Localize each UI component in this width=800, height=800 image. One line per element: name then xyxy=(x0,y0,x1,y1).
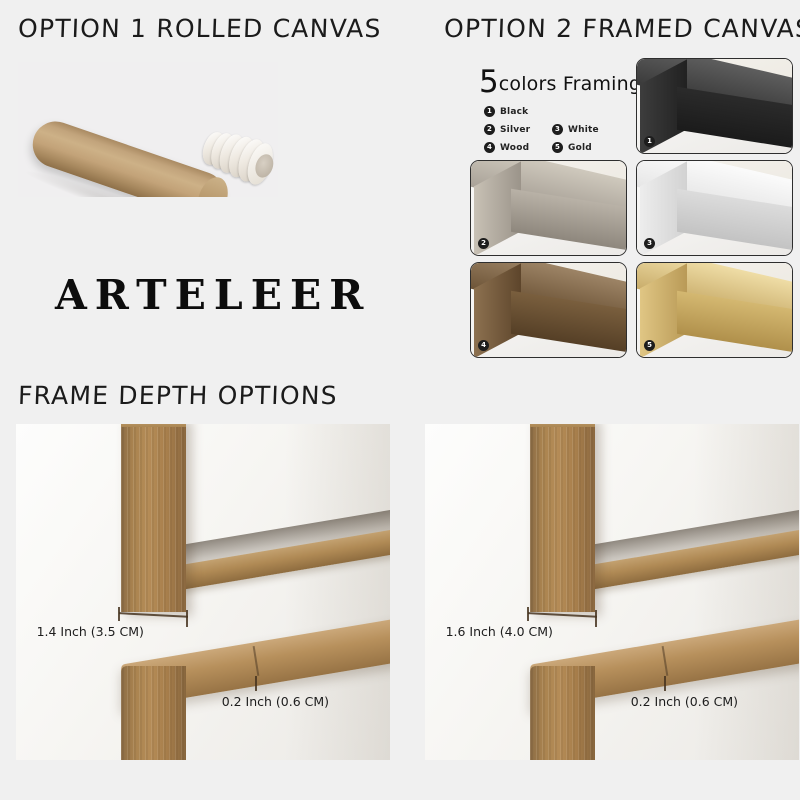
depth-dimension-label: 1.6 Inch (4.0 CM) xyxy=(446,624,553,639)
section-title-option-2: OPTION 2 FRAMED CANVAS xyxy=(443,14,800,43)
depth-dimension-tick-right xyxy=(186,610,188,627)
depth-dimension-tick-left xyxy=(527,607,529,620)
edge-dimension-label: 0.2 Inch (0.6 CM) xyxy=(222,694,329,709)
frame-swatch-gold[interactable]: 5 xyxy=(636,262,793,358)
wall-shading xyxy=(285,424,390,760)
swatch-badge-4-icon: 4 xyxy=(478,340,489,351)
frame-lower-leg xyxy=(530,666,595,760)
frame-leg-top-edge xyxy=(121,424,186,427)
rolled-canvas-photo xyxy=(18,62,278,197)
wall-shading xyxy=(694,424,799,760)
section-title-option-1: OPTION 1 ROLLED CANVAS xyxy=(17,14,382,43)
swatch-badge-5-icon: 5 xyxy=(644,340,655,351)
swatch-badge-1-icon: 1 xyxy=(644,136,655,147)
frame-depth-photo-deep: 1.6 Inch (4.0 CM) 0.2 Inch (0.6 CM) xyxy=(425,424,799,760)
brand-plate: ARTELEER xyxy=(47,250,362,350)
frame-vertical-leg xyxy=(121,424,186,612)
swatch-badge-2-icon: 2 xyxy=(478,238,489,249)
frame-lower-leg xyxy=(121,666,186,760)
frame-swatch-silver[interactable]: 2 xyxy=(470,160,627,256)
depth-dimension-label: 1.4 Inch (3.5 CM) xyxy=(37,624,144,639)
frame-leg-top-edge xyxy=(530,424,595,427)
brand-wordmark: ARTELEER xyxy=(47,270,362,320)
depth-dimension-tick-left xyxy=(118,607,120,620)
frame-swatch-white[interactable]: 3 xyxy=(636,160,793,256)
frame-depth-photo-shallow: 1.4 Inch (3.5 CM) 0.2 Inch (0.6 CM) xyxy=(16,424,390,760)
edge-dimension-tick xyxy=(255,676,257,691)
swatch-badge-3-icon: 3 xyxy=(644,238,655,249)
edge-dimension-tick xyxy=(664,676,666,691)
frame-swatch-wood[interactable]: 4 xyxy=(470,262,627,358)
edge-dimension-label: 0.2 Inch (0.6 CM) xyxy=(631,694,738,709)
section-title-frame-depth: FRAME DEPTH OPTIONS xyxy=(17,381,338,410)
frame-vertical-leg xyxy=(530,424,595,612)
frame-swatch-black[interactable]: 1 xyxy=(636,58,793,154)
frame-swatch-grid: 1 2 3 xyxy=(470,58,796,356)
framing-options-panel: 5colors Framing 1 Black 2 Silver 3 White… xyxy=(470,58,796,356)
depth-dimension-tick-right xyxy=(595,610,597,627)
